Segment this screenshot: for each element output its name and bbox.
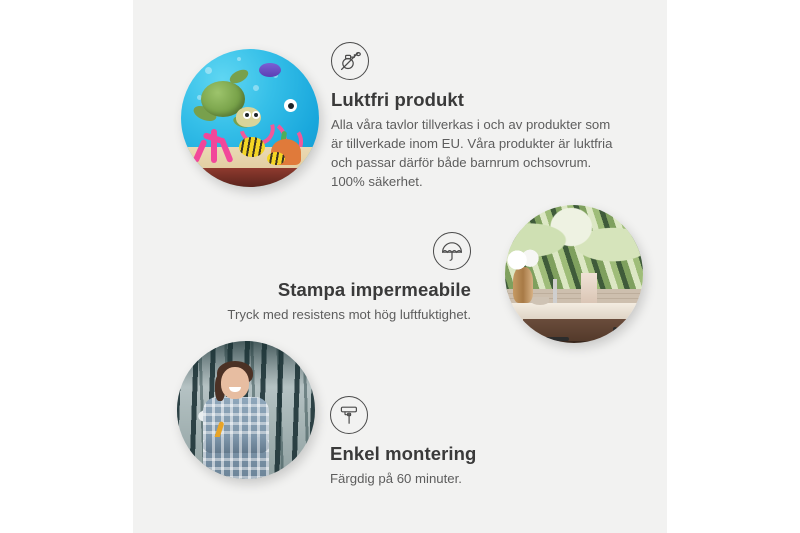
photo-bathroom-vanity-leaf-wallpaper — [505, 205, 643, 343]
paint-roller-icon — [330, 396, 368, 434]
no-odor-icon — [331, 42, 369, 80]
feature-block-odor-free: Luktfri produkt Alla våra tavlor tillver… — [331, 42, 617, 191]
feature-title: Enkel montering — [330, 443, 570, 464]
infographic-canvas: Luktfri produkt Alla våra tavlor tillver… — [0, 0, 800, 533]
feature-description: Färgdig på 60 minuter. — [330, 469, 570, 488]
photo-woman-with-paint-roller-forest — [177, 341, 315, 479]
feature-title: Luktfri produkt — [331, 89, 617, 110]
photo-underwater-kids-scene — [181, 49, 319, 187]
feature-description: Tryck med resistens mot hög luftfuktighe… — [213, 305, 471, 324]
feature-block-easy-mounting: Enkel montering Färgdig på 60 minuter. — [330, 396, 570, 488]
feature-title: Stampa impermeabile — [213, 279, 471, 300]
umbrella-icon — [433, 232, 471, 270]
feature-block-waterproof: Stampa impermeabile Tryck med resistens … — [213, 232, 471, 324]
feature-description: Alla våra tavlor tillverkas i och av pro… — [331, 115, 617, 191]
